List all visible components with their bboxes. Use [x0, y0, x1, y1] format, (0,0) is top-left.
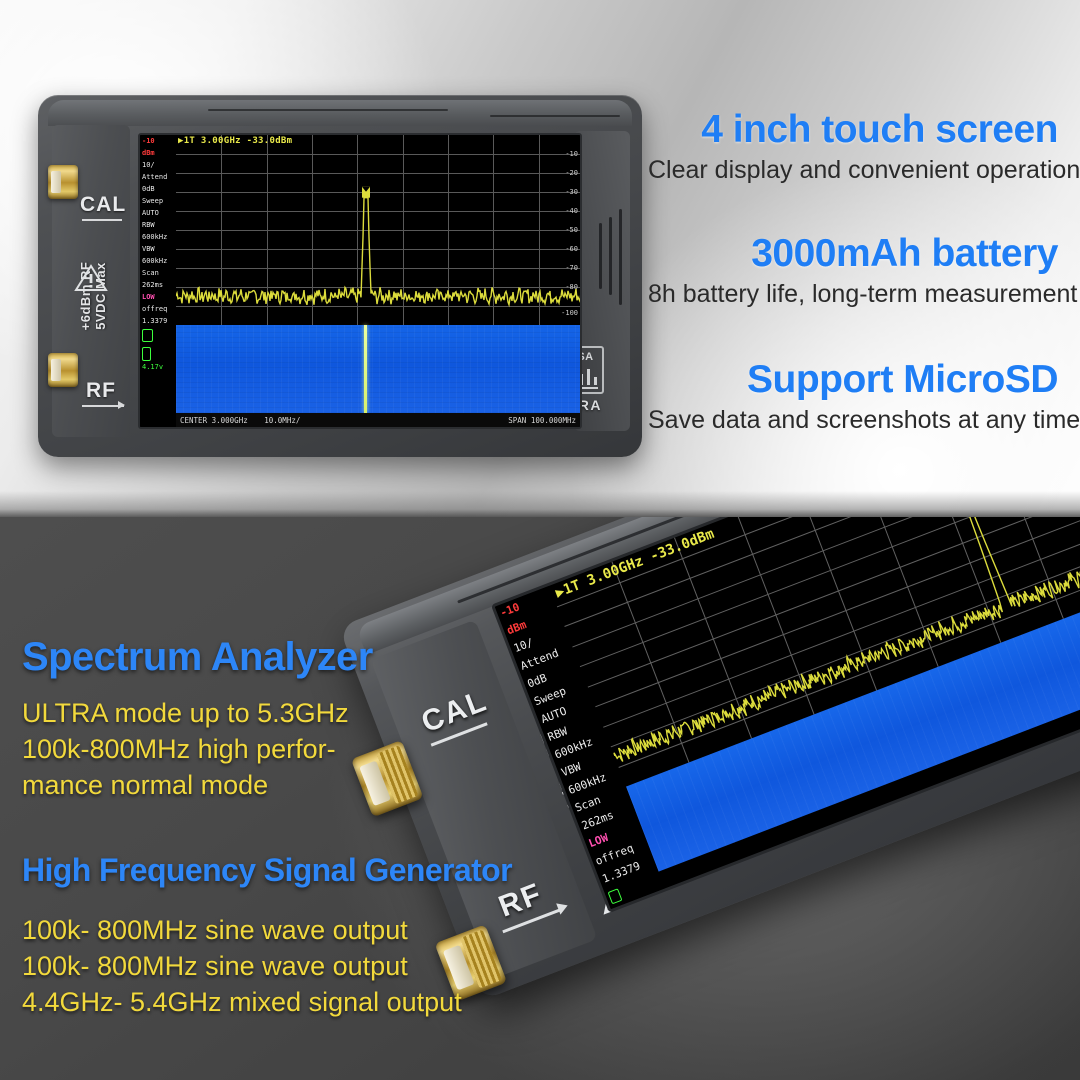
sidebar-row: offreq: [140, 305, 176, 313]
db-tick-label: -10: [565, 150, 578, 158]
sidebar-row: 0dB: [140, 185, 176, 193]
spec-line: ULTRA mode up to 5.3GHz: [22, 695, 349, 731]
sidebar-row: VBW: [140, 245, 176, 253]
feature-subtitle: 8h battery life, long-term measurement: [648, 280, 1058, 309]
sidebar-row: 1.3379: [140, 317, 176, 325]
waterfall-display: [176, 325, 580, 413]
sidebar-row: dBm: [140, 149, 176, 157]
center-frequency-label: CENTER 3.000GHz: [180, 416, 248, 425]
feature-title: 4 inch touch screen: [648, 108, 1058, 152]
device-vent: [619, 209, 622, 305]
span-label: SPAN 100.000MHz: [508, 416, 576, 425]
db-tick-label: -60: [565, 245, 578, 253]
device-bevel-line: [208, 109, 448, 111]
device-screen[interactable]: -10dBm10/Attend0dBSweepAUTORBW600kHzVBW6…: [138, 133, 582, 429]
sidebar-row: AUTO: [140, 209, 176, 217]
battery-icon: [142, 347, 151, 361]
feature-subtitle: Clear display and convenient operation: [648, 156, 1058, 185]
feature-title: Support MicroSD: [648, 358, 1058, 402]
sd-card-icon: [142, 329, 153, 342]
feature-battery: 3000mAh battery 8h battery life, long-te…: [648, 232, 1058, 309]
bottom-feature-panel: CAL RF +6dBm RF5VDC Max -10dBm10/Attend0…: [0, 517, 1080, 1080]
feature-touchscreen: 4 inch touch screen Clear display and co…: [648, 108, 1058, 185]
section-heading: High Frequency Signal Generator: [22, 852, 512, 889]
sidebar-row: LOW: [140, 293, 176, 301]
sidebar-row: 10/: [140, 161, 176, 169]
spectrum-analyzer-specs: ULTRA mode up to 5.3GHz 100k-800MHz high…: [22, 695, 349, 803]
sidebar-row: 600kHz: [140, 233, 176, 241]
sd-card-icon: [608, 888, 623, 904]
spec-line: 100k-800MHz high perfor-: [22, 731, 349, 767]
peak-marker: [362, 187, 370, 198]
warning-triangle-icon: [74, 263, 108, 293]
db-tick-label: -80: [565, 283, 578, 291]
spec-line: 4.4GHz- 5.4GHz mixed signal output: [22, 984, 462, 1020]
db-tick-label: -20: [565, 169, 578, 177]
device-vent: [599, 223, 602, 289]
rf-port-label: RF: [86, 379, 116, 403]
spec-line: mance normal mode: [22, 767, 349, 803]
spectrum-trace: [176, 135, 582, 325]
signal-generator-specs: 100k- 800MHz sine wave output 100k- 800M…: [22, 912, 462, 1020]
sidebar-row: Sweep: [140, 197, 176, 205]
sidebar-row: RBW: [140, 221, 176, 229]
screen-header-readout: ▶1T 3.00GHz -33.0dBm: [178, 136, 292, 146]
sidebar-row: Attend: [140, 173, 176, 181]
rf-arrow-icon: [556, 900, 570, 915]
db-tick-label: -40: [565, 207, 578, 215]
spec-line: 100k- 800MHz sine wave output: [22, 912, 462, 948]
device-top-bevel: [48, 100, 632, 126]
status-icons: 4.17v: [140, 329, 176, 371]
section-heading: Spectrum Analyzer: [22, 635, 373, 680]
section-signal-generator: High Frequency Signal Generator: [22, 852, 512, 889]
sidebar-row: 600kHz: [140, 257, 176, 265]
cal-underline: [82, 219, 122, 221]
voltage-label: 4.17v: [142, 363, 163, 371]
trace-line: [176, 198, 582, 305]
sidebar-row: -10: [140, 137, 176, 145]
feature-microsd: Support MicroSD Save data and screenshot…: [648, 358, 1058, 435]
rf-arrow-icon: [118, 401, 125, 409]
section-spectrum-analyzer: Spectrum Analyzer: [22, 635, 373, 680]
db-tick-label: -100: [561, 309, 578, 317]
sidebar-row: Scan: [140, 269, 176, 277]
per-division-label: 10.0MHz/: [264, 416, 300, 425]
screen-footer: CENTER 3.000GHz 10.0MHz/ SPAN 100.000MHz: [176, 413, 580, 427]
feature-title: 3000mAh battery: [648, 232, 1058, 276]
sidebar-row: 262ms: [140, 281, 176, 289]
db-tick-label: -70: [565, 264, 578, 272]
waterfall-signal-line: [364, 325, 367, 413]
power-warning-label: +6dBm RF5VDC Max: [78, 229, 108, 363]
db-tick-label: -50: [565, 226, 578, 234]
cal-port-label: CAL: [80, 193, 126, 217]
spec-line: 100k- 800MHz sine wave output: [22, 948, 462, 984]
device-bevel-line: [490, 115, 620, 117]
db-tick-label: -30: [565, 188, 578, 196]
screen-sidebar: -10dBm10/Attend0dBSweepAUTORBW600kHzVBW6…: [140, 135, 176, 427]
screen-footer-left: CENTER 3.000GHz 10.0MHz/: [180, 416, 312, 425]
device-vent: [609, 217, 612, 295]
top-feature-panel: CAL +6dBm RF5VDC Max RF tinySA: [0, 0, 1080, 517]
device-top-view: CAL +6dBm RF5VDC Max RF tinySA: [38, 95, 642, 457]
sma-connector-cal: [48, 165, 78, 199]
feature-subtitle: Save data and screenshots at any time.: [648, 406, 1058, 435]
sma-connector-rf: [48, 353, 78, 387]
